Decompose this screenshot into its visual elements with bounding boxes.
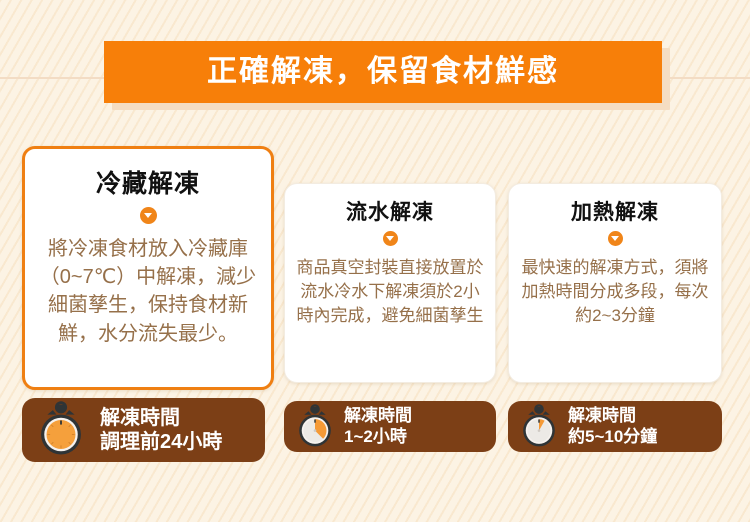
method-card-refrigerator[interactable]: 冷藏解凍 將冷凍食材放入冷藏庫（0~7℃）中解凍，減少細菌孳生，保持食材新鮮，水…: [22, 146, 274, 390]
stopwatch-icon: [516, 404, 562, 450]
badge-text: 解凍時間約5~10分鐘: [568, 406, 657, 447]
stopwatch-icon: [32, 401, 90, 459]
time-badge-refrigerator: 解凍時間調理前24小時: [22, 398, 265, 462]
badge-label: 解凍時間: [344, 406, 412, 425]
triangle-glyph: [386, 236, 394, 241]
method-card-running-water[interactable]: 流水解凍 商品真空封裝直接放置於流水冷水下解凍須於2小時內完成，避免細菌孳生: [284, 183, 496, 383]
chevron-down-icon: [608, 231, 623, 246]
triangle-glyph: [144, 213, 152, 218]
badge-value: 1~2小時: [344, 427, 407, 446]
card-body: 將冷凍食材放入冷藏庫（0~7℃）中解凍，減少細菌孳生，保持食材新鮮，水分流失最少…: [25, 235, 271, 349]
chevron-down-icon: [140, 207, 157, 224]
stopwatch-icon: [292, 404, 338, 450]
triangle-glyph: [611, 236, 619, 241]
title-banner: 正確解凍，保留食材鮮感: [104, 41, 662, 103]
badge-value: 調理前24小時: [100, 431, 222, 453]
poster-canvas: 正確解凍，保留食材鮮感 冷藏解凍 將冷凍食材放入冷藏庫（0~7℃）中解凍，減少細…: [0, 0, 750, 522]
banner-title: 正確解凍，保留食材鮮感: [207, 57, 559, 87]
badge-text: 解凍時間1~2小時: [344, 406, 412, 447]
card-body: 最快速的解凍方式，須將加熱時間分成多段，每次約2~3分鐘: [509, 256, 721, 328]
method-card-heating[interactable]: 加熱解凍 最快速的解凍方式，須將加熱時間分成多段，每次約2~3分鐘: [508, 183, 722, 383]
time-badge-running-water: 解凍時間1~2小時: [284, 401, 496, 452]
badge-value: 約5~10分鐘: [568, 427, 657, 446]
time-badge-heating: 解凍時間約5~10分鐘: [508, 401, 722, 452]
chevron-down-icon: [383, 231, 398, 246]
badge-text: 解凍時間調理前24小時: [100, 406, 222, 455]
badge-label: 解凍時間: [100, 407, 180, 429]
card-title: 冷藏解凍: [25, 171, 271, 199]
card-title: 加熱解凍: [509, 201, 721, 224]
card-title: 流水解凍: [285, 201, 495, 224]
badge-label: 解凍時間: [568, 406, 636, 425]
card-body: 商品真空封裝直接放置於流水冷水下解凍須於2小時內完成，避免細菌孳生: [285, 256, 495, 328]
